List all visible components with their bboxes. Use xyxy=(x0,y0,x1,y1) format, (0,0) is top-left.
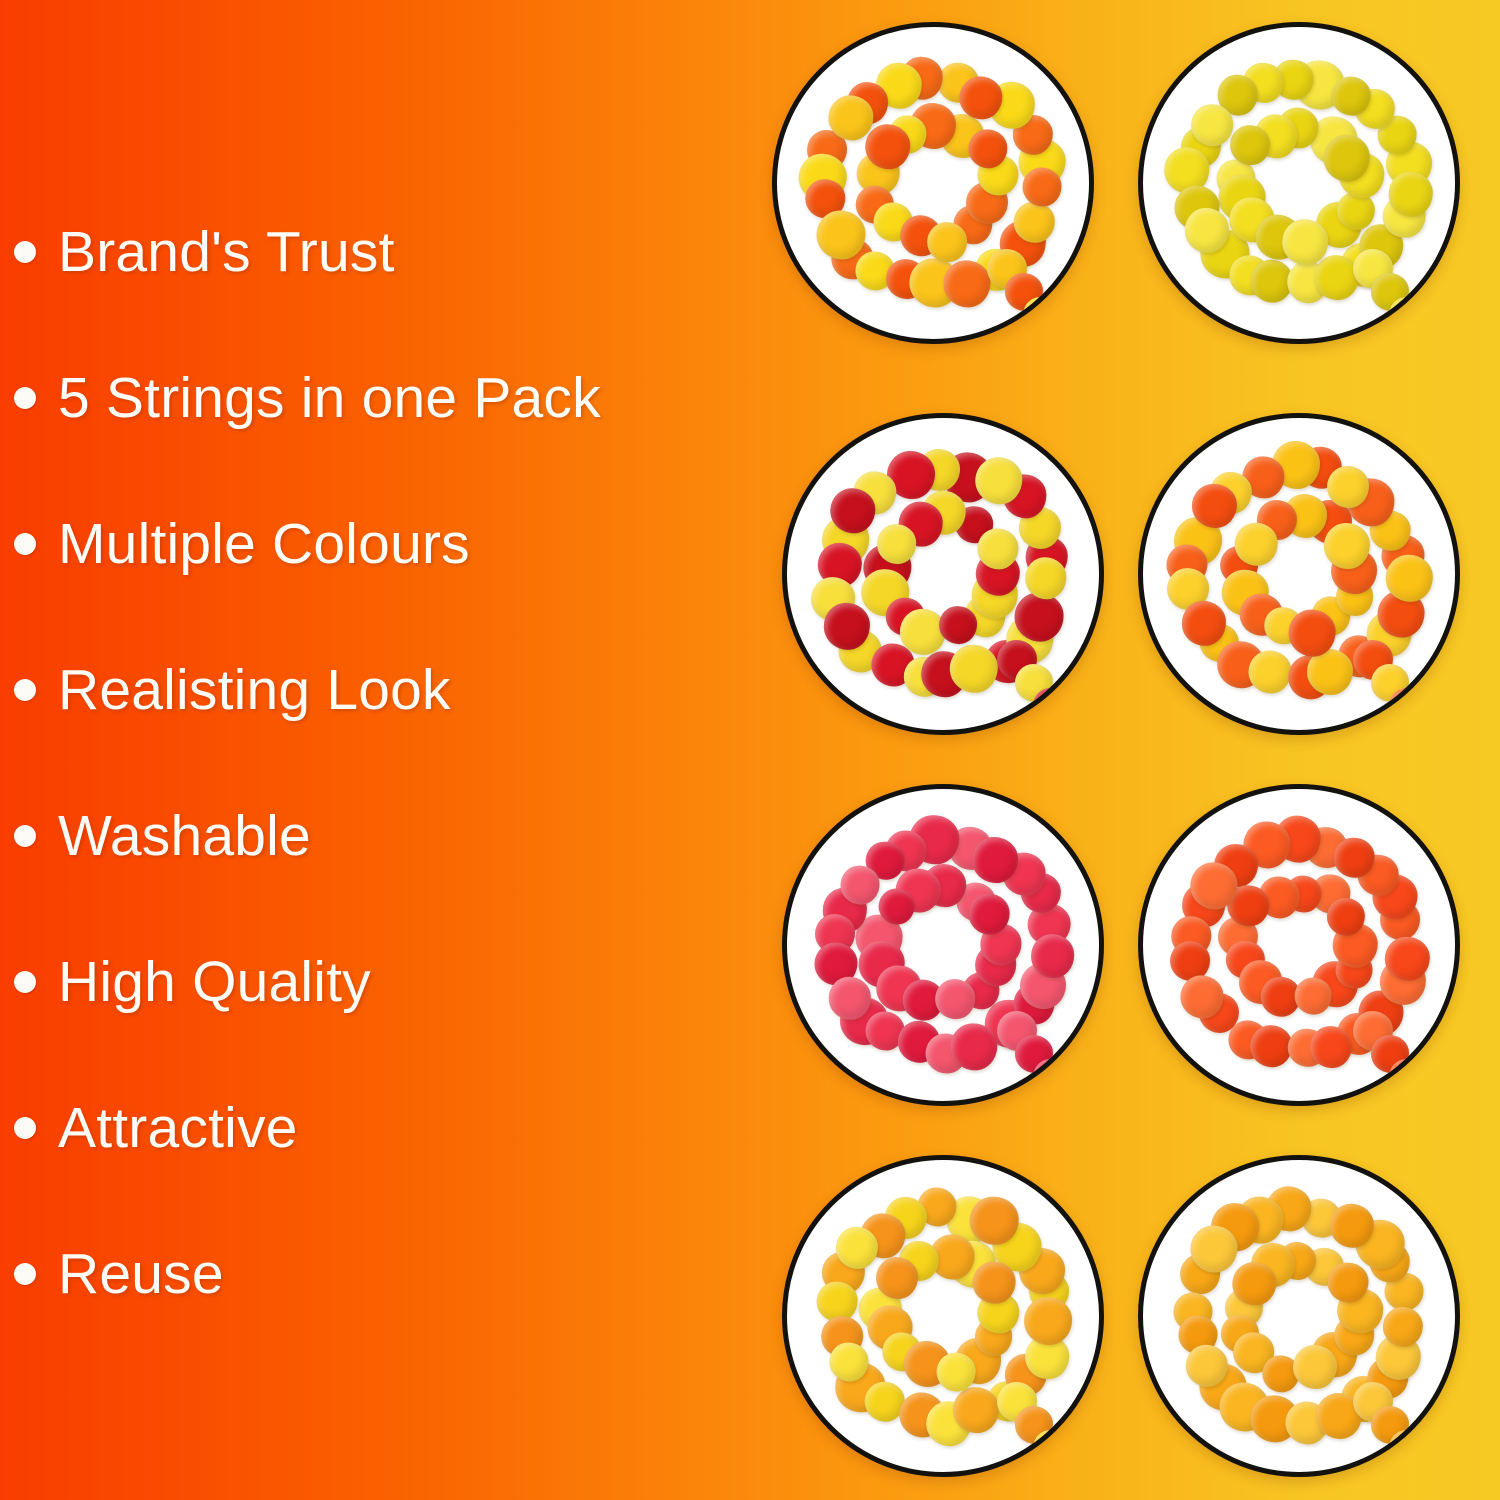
marigold-flower xyxy=(1334,837,1375,878)
garland-illustration xyxy=(1143,789,1455,1101)
feature-list: Brand's Trust5 Strings in one PackMultip… xyxy=(0,0,760,1500)
marigold-flower xyxy=(1328,1262,1369,1303)
marigold-flower xyxy=(1324,523,1370,569)
marigold-flower xyxy=(1235,523,1278,566)
marigold-flower xyxy=(1327,466,1369,508)
marigold-flower xyxy=(1386,555,1432,601)
marigold-flower xyxy=(841,865,880,904)
marigold-flower xyxy=(937,1353,976,1392)
bullet-dot-icon xyxy=(14,1117,36,1139)
product-photo-gallery xyxy=(760,0,1500,1500)
marigold-flower xyxy=(973,1261,1016,1304)
feature-label: High Quality xyxy=(58,954,371,1011)
product-photo-yellow-amber-garland xyxy=(782,1155,1104,1477)
feature-list-item: Attractive xyxy=(14,1093,298,1163)
garland-illustration xyxy=(787,418,1099,730)
marigold-flower xyxy=(1293,1345,1337,1389)
feature-label: Multiple Colours xyxy=(58,516,470,573)
marigold-flower xyxy=(828,95,873,140)
feature-label: Attractive xyxy=(58,1100,298,1157)
marigold-flower xyxy=(877,524,917,564)
product-photo-yellow-orange-mixed-garland xyxy=(772,22,1094,344)
feature-list-item: Brand's Trust xyxy=(14,217,395,287)
feature-label: Brand's Trust xyxy=(58,224,395,281)
marigold-flower xyxy=(900,609,946,655)
garland-illustration xyxy=(787,789,1099,1101)
product-feature-infographic: Brand's Trust5 Strings in one PackMultip… xyxy=(0,0,1500,1500)
marigold-flower xyxy=(939,606,977,644)
feature-list-item: Reuse xyxy=(14,1239,224,1309)
marigold-flower xyxy=(1289,610,1336,657)
marigold-flower xyxy=(953,1387,999,1433)
marigold-flower xyxy=(950,645,998,693)
garland-illustration xyxy=(1143,27,1455,339)
marigold-flower xyxy=(1314,255,1360,301)
bullet-dot-icon xyxy=(14,825,36,847)
feature-label: 5 Strings in one Pack xyxy=(58,370,601,427)
marigold-flower xyxy=(1249,651,1292,694)
marigold-flower xyxy=(1295,978,1332,1015)
marigold-flower xyxy=(969,894,1010,935)
bullet-dot-icon xyxy=(14,679,36,701)
marigold-flower xyxy=(1311,1026,1353,1068)
marigold-flower xyxy=(1250,1025,1292,1067)
marigold-flower xyxy=(943,261,990,308)
marigold-flower xyxy=(878,888,915,925)
marigold-flower xyxy=(1190,1226,1237,1273)
marigold-flower xyxy=(865,124,910,169)
marigold-flower xyxy=(816,211,865,260)
marigold-flower xyxy=(950,1023,997,1070)
feature-list-item: High Quality xyxy=(14,947,371,1017)
marigold-flower xyxy=(1015,592,1064,641)
product-photo-orange-garland xyxy=(1138,784,1460,1106)
marigold-flower xyxy=(1014,202,1054,242)
product-photo-golden-amber-garland xyxy=(1138,1155,1460,1477)
garland-illustration xyxy=(777,27,1089,339)
product-photo-pink-garland xyxy=(782,784,1104,1106)
marigold-flower xyxy=(1383,1307,1423,1347)
marigold-flower xyxy=(876,1258,918,1300)
bullet-dot-icon xyxy=(14,387,36,409)
marigold-flower xyxy=(824,603,870,649)
feature-label: Reuse xyxy=(58,1246,224,1303)
bullet-dot-icon xyxy=(14,241,36,263)
marigold-flower xyxy=(1192,484,1236,528)
marigold-flower xyxy=(1233,1262,1276,1305)
marigold-flower xyxy=(1024,1297,1072,1345)
product-photo-red-yellow-garland xyxy=(782,413,1104,735)
feature-label: Realisting Look xyxy=(58,662,451,719)
feature-label: Washable xyxy=(58,808,311,865)
product-photo-yellow-garland xyxy=(1138,22,1460,344)
marigold-flower xyxy=(935,979,975,1019)
marigold-flower xyxy=(1388,172,1433,217)
garland-illustration xyxy=(1143,1160,1455,1472)
marigold-flower xyxy=(927,222,967,262)
feature-list-item: 5 Strings in one Pack xyxy=(14,363,601,433)
marigold-flower xyxy=(1025,558,1067,600)
bullet-dot-icon xyxy=(14,1263,36,1285)
marigold-flower xyxy=(1332,77,1371,116)
marigold-flower xyxy=(1022,168,1061,207)
marigold-flower xyxy=(1182,601,1226,645)
garland-illustration xyxy=(1143,418,1455,730)
marigold-flower xyxy=(977,528,1018,569)
product-photo-orange-yellow-garland xyxy=(1138,413,1460,735)
garland-illustration xyxy=(787,1160,1099,1472)
marigold-flower xyxy=(972,837,1018,883)
marigold-flower xyxy=(1031,934,1075,978)
marigold-flower xyxy=(970,1197,1019,1246)
marigold-flower xyxy=(1191,104,1233,146)
feature-list-item: Washable xyxy=(14,801,311,871)
feature-list-item: Realisting Look xyxy=(14,655,451,725)
marigold-flower xyxy=(1231,125,1271,165)
feature-list-item: Multiple Colours xyxy=(14,509,470,579)
marigold-flower xyxy=(959,76,1002,119)
marigold-flower xyxy=(836,1226,878,1268)
bullet-dot-icon xyxy=(14,533,36,555)
marigold-flower xyxy=(830,488,875,533)
marigold-flower xyxy=(829,1342,868,1381)
bullet-dot-icon xyxy=(14,971,36,993)
marigold-flower xyxy=(1323,135,1370,182)
marigold-flower xyxy=(1283,220,1329,266)
marigold-flower xyxy=(1180,976,1223,1019)
